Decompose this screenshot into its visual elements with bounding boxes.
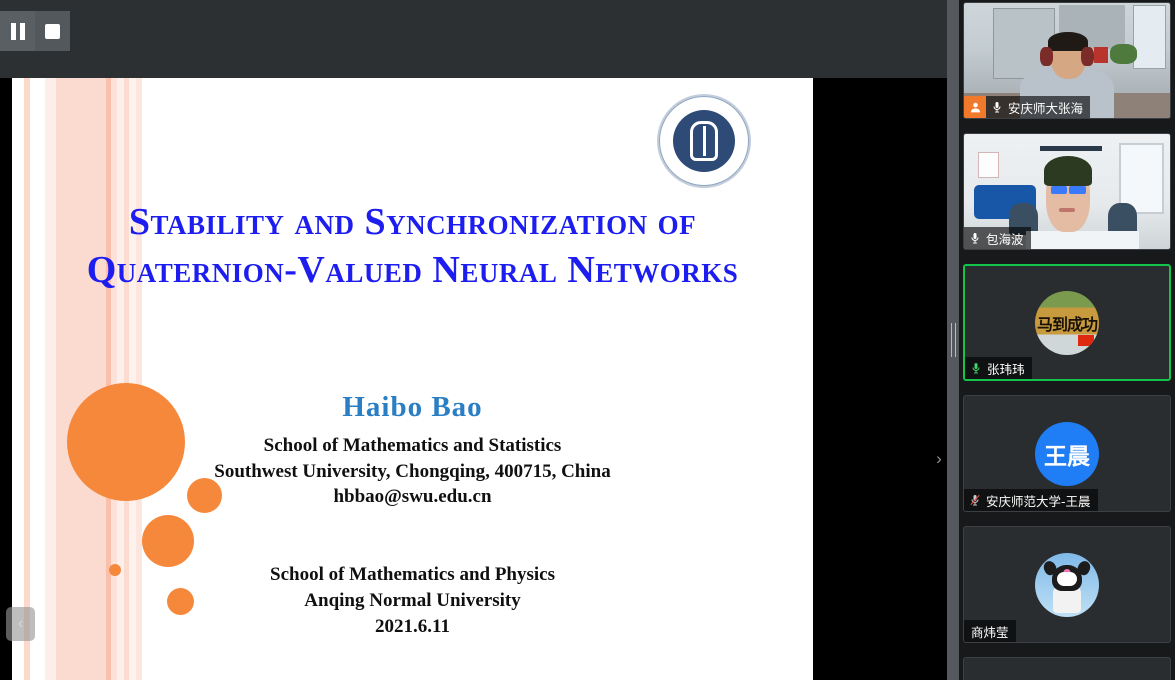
participant-tile[interactable]: 安庆师大张海 bbox=[963, 2, 1171, 119]
participant-tile[interactable]: 商炜莹 bbox=[963, 526, 1171, 643]
affiliation-line: School of Mathematics and Statistics bbox=[40, 433, 785, 459]
affiliation-line: Southwest University, Chongqing, 400715,… bbox=[40, 459, 785, 485]
participant-tile[interactable]: 王晨 安庆师范大学-王晨 bbox=[963, 395, 1171, 512]
slide-title: Stability and Synchronization of Quatern… bbox=[40, 198, 785, 294]
mic-unmuted-icon bbox=[965, 357, 987, 379]
panel-toggle-button[interactable]: › bbox=[929, 448, 949, 470]
venue-line: School of Mathematics and Physics bbox=[40, 562, 785, 588]
pause-button[interactable] bbox=[0, 11, 35, 51]
stop-button[interactable] bbox=[35, 11, 70, 51]
participant-avatar: 马到成功 bbox=[1035, 291, 1099, 355]
venue-line: Anqing Normal University bbox=[40, 588, 785, 614]
mic-muted-icon bbox=[964, 489, 986, 511]
shared-screen-area: Stability and Synchronization of Quatern… bbox=[0, 78, 947, 680]
participant-namebar: 张玮玮 bbox=[965, 357, 1032, 379]
participant-tile[interactable]: 包海波 bbox=[963, 133, 1171, 250]
pause-icon bbox=[11, 23, 25, 40]
participant-name: 包海波 bbox=[986, 229, 1024, 248]
avatar-initials: 王晨 bbox=[1044, 437, 1090, 471]
stop-icon bbox=[45, 24, 60, 39]
participant-tile-active-speaker[interactable]: 马到成功 张玮玮 bbox=[963, 264, 1171, 381]
presentation-slide[interactable]: Stability and Synchronization of Quatern… bbox=[12, 78, 813, 680]
slide-venue: School of Mathematics and Physics Anqing… bbox=[40, 562, 785, 640]
flag-icon bbox=[1078, 335, 1094, 346]
participant-name: 张玮玮 bbox=[987, 359, 1025, 378]
panel-resize-handle[interactable] bbox=[947, 0, 959, 680]
mic-unmuted-icon bbox=[986, 96, 1008, 118]
slide-author: Haibo Bao bbox=[40, 391, 785, 424]
southwest-university-logo-icon bbox=[657, 94, 751, 188]
drag-handle-icon bbox=[951, 323, 952, 357]
meeting-window: Stability and Synchronization of Quatern… bbox=[0, 0, 1175, 680]
participant-name: 安庆师大张海 bbox=[1008, 98, 1083, 117]
chevron-left-icon: ‹ bbox=[18, 615, 23, 633]
participant-name: 商炜莹 bbox=[964, 622, 1009, 641]
participant-namebar: 商炜莹 bbox=[964, 620, 1016, 642]
host-badge-icon bbox=[964, 96, 986, 118]
avatar-text: 马到成功 bbox=[1037, 311, 1097, 335]
participant-tile[interactable] bbox=[963, 657, 1171, 680]
recording-controls bbox=[0, 11, 70, 51]
recording-toolbar bbox=[0, 0, 947, 78]
slide-affiliation: School of Mathematics and Statistics Sou… bbox=[40, 433, 785, 510]
participant-avatar bbox=[1035, 553, 1099, 617]
participant-namebar: 安庆师范大学-王晨 bbox=[964, 489, 1098, 511]
previous-slide-button[interactable]: ‹ bbox=[6, 607, 35, 641]
participant-name: 安庆师范大学-王晨 bbox=[986, 491, 1091, 510]
participant-video-strip: 安庆师大张海 包海波 马到成功 bbox=[959, 0, 1175, 680]
affiliation-email: hbbao@swu.edu.cn bbox=[40, 484, 785, 510]
participant-namebar: 安庆师大张海 bbox=[964, 96, 1090, 118]
mic-unmuted-icon bbox=[964, 227, 986, 249]
chevron-right-icon: › bbox=[936, 449, 942, 469]
decorative-circle bbox=[142, 515, 194, 567]
participant-namebar: 包海波 bbox=[964, 227, 1031, 249]
venue-date: 2021.6.11 bbox=[40, 614, 785, 640]
drag-handle-icon bbox=[955, 323, 956, 357]
participant-avatar: 王晨 bbox=[1035, 422, 1099, 486]
